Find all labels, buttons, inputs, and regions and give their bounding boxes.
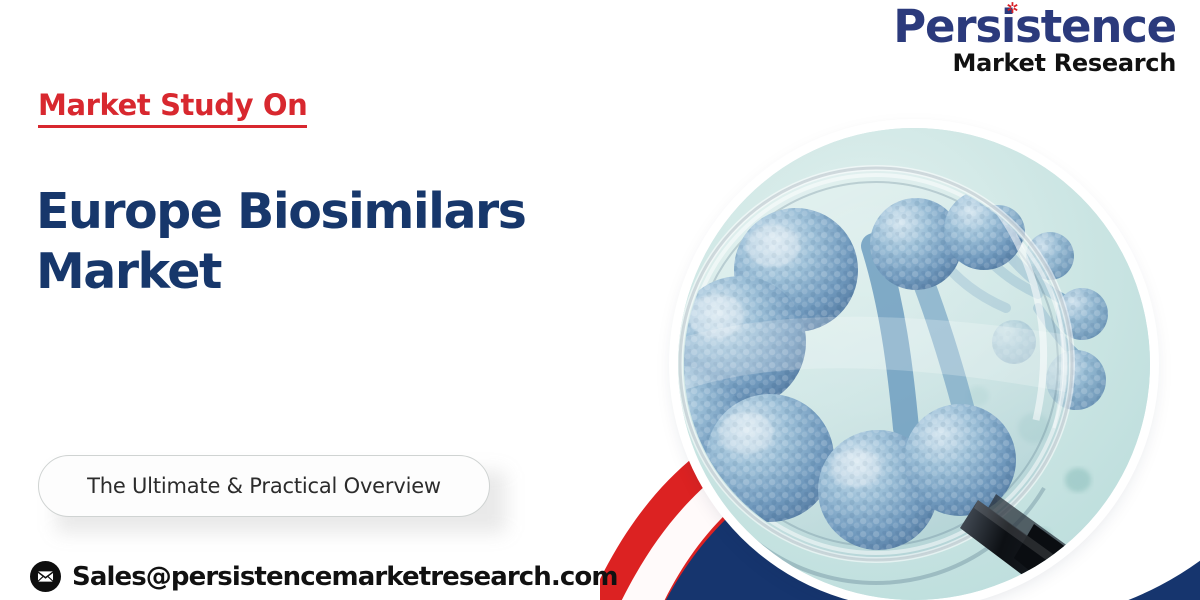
banner-root: Persistence ✲ Market Research Market Stu… — [0, 0, 1200, 600]
logo-brand-label: Persistence — [893, 0, 1176, 53]
hero-artwork — [600, 0, 1200, 600]
contact-email-text: Sales@persistencemarketresearch.com — [72, 562, 618, 592]
cells-illustration — [678, 128, 1150, 600]
company-logo[interactable]: Persistence ✲ Market Research — [893, 4, 1176, 75]
hero-text-panel: Market Study On Europe Biosimilars Marke… — [0, 0, 620, 600]
envelope-icon — [30, 561, 61, 592]
star-icon: ✲ — [1005, 2, 1018, 15]
logo-brand-text: Persistence ✲ — [893, 4, 1176, 49]
subtitle-pill[interactable]: The Ultimate & Practical Overview — [38, 455, 490, 517]
page-title: Europe Biosimilars Market — [36, 182, 576, 302]
logo-tagline: Market Research — [893, 51, 1176, 75]
eyebrow-label: Market Study On — [38, 88, 307, 128]
contact-email-row[interactable]: Sales@persistencemarketresearch.com — [30, 561, 618, 592]
subtitle-pill-wrap: The Ultimate & Practical Overview — [38, 455, 490, 517]
cell-photo-circle — [678, 128, 1150, 600]
